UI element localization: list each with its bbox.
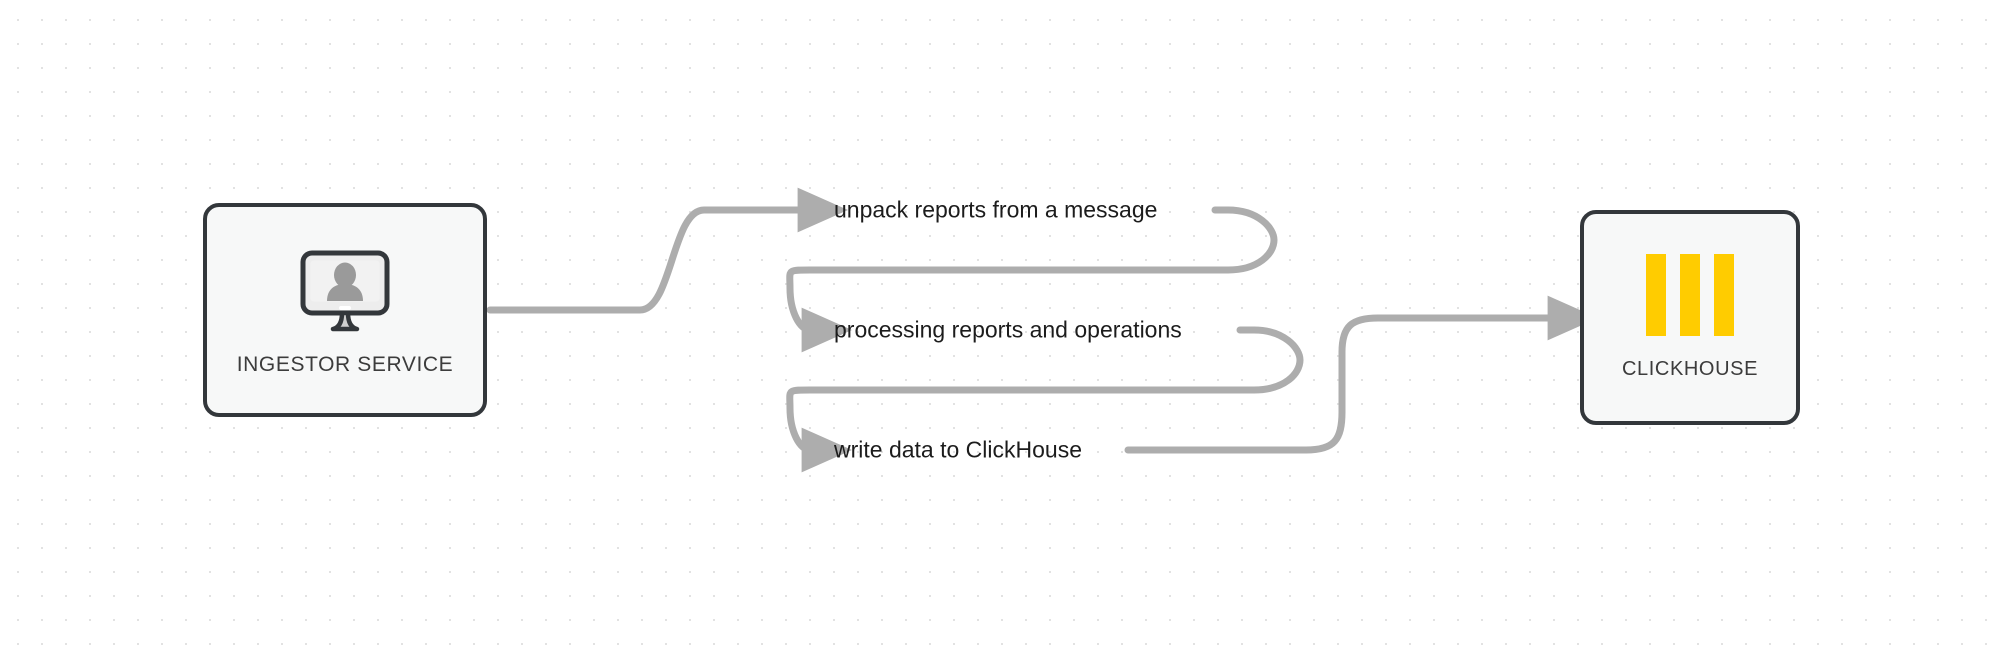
edge-label-step-3: write data to ClickHouse: [834, 439, 1082, 462]
edge-step-2-to-step-3: [790, 390, 810, 450]
node-label-clickhouse: CLICKHOUSE: [1622, 358, 1758, 381]
clickhouse-bars-icon: [1646, 254, 1734, 336]
edge-ingestor-to-step-1: [490, 210, 806, 310]
edge-label-step-2: processing reports and operations: [834, 319, 1182, 342]
monitor-user-icon: [297, 249, 393, 333]
clickhouse-bar-3: [1714, 254, 1734, 336]
edge-step-1-to-step-2: [790, 270, 810, 330]
node-label-ingestor-service: INGESTOR SERVICE: [237, 353, 454, 377]
node-ingestor-service[interactable]: INGESTOR SERVICE: [203, 203, 487, 417]
edge-step-3-to-clickhouse: [1128, 318, 1556, 450]
node-clickhouse[interactable]: CLICKHOUSE: [1580, 210, 1800, 425]
clickhouse-bar-1: [1646, 254, 1666, 336]
diagram-canvas: INGESTOR SERVICE CLICKHOUSE unpack repor…: [0, 0, 2000, 656]
edge-label-step-1: unpack reports from a message: [834, 199, 1157, 222]
clickhouse-bar-2: [1680, 254, 1700, 336]
